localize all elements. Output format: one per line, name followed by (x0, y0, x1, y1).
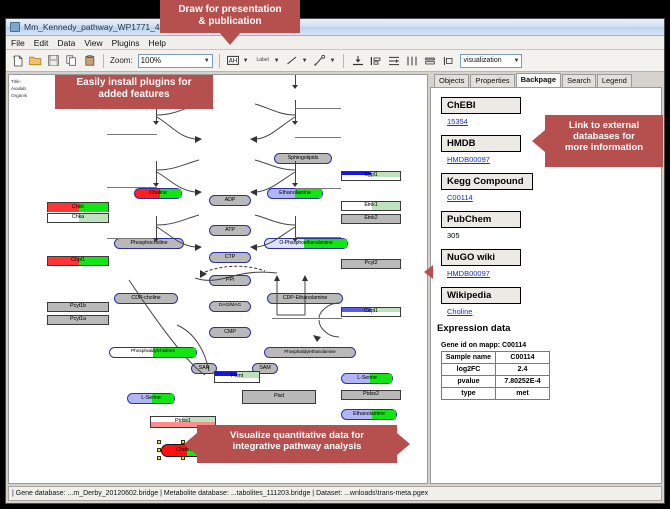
zoom-combo[interactable]: 100% ▼ (138, 54, 213, 68)
node-label: O-Phosphoethanolamine (279, 241, 332, 246)
node-label: Ethanolamine (279, 191, 311, 196)
expr-key-log2fc: log2FC (442, 364, 496, 376)
datanode-icon[interactable]: AH (226, 53, 241, 68)
db-name-pubchem: PubChem (441, 211, 521, 228)
node-label: Phosphatidylethanolamine (284, 350, 336, 355)
toolbar: Zoom: 100% ▼ AH ▼ Label ▼ ▼ ▼ (6, 50, 664, 72)
node-label: CMP (224, 330, 236, 335)
zoom-label: Zoom: (110, 56, 133, 65)
node-label: Ptdss1 (175, 419, 191, 424)
node-label: Phosphocholine (131, 241, 168, 246)
db-block-pubchem: PubChem 305 (441, 209, 661, 240)
paste-icon[interactable] (82, 53, 97, 68)
visualization-combo[interactable]: visualization ▼ (460, 54, 522, 68)
menu-item-edit[interactable]: Edit (34, 38, 49, 48)
toolbar-separator-1 (103, 54, 104, 68)
db-block-wikipedia: Wikipedia Choline (441, 285, 661, 316)
node-label: Phosphatidylcholines (131, 350, 175, 355)
node-label: Ptdss2 (363, 392, 379, 397)
align-top-icon[interactable] (350, 53, 365, 68)
menu-item-file[interactable]: File (11, 38, 25, 48)
tab-properties[interactable]: Properties (470, 74, 514, 87)
expr-val-pvalue: 7.80252E-4 (496, 376, 550, 388)
node-label: Pemt (231, 374, 243, 379)
callout-link: Link to external databases for more info… (545, 115, 663, 167)
db-name-kegg: Kegg Compound (441, 173, 533, 190)
menu-item-view[interactable]: View (84, 38, 102, 48)
arrowhead-2 (153, 183, 159, 187)
callout-link-arrow-icon (532, 130, 545, 152)
pathway-canvas[interactable]: Title: Availab Organis (8, 74, 428, 484)
callout-draw: Draw for presentation & publication (160, 0, 300, 33)
line-dropdown-icon[interactable]: ▼ (302, 58, 308, 64)
node-label: Pisd (274, 394, 284, 399)
node-label: ATP (225, 228, 235, 233)
chevron-down-icon: ▼ (204, 58, 210, 64)
db-link-wikipedia[interactable]: Choline (447, 307, 661, 316)
db-name-wikipedia: Wikipedia (441, 287, 521, 304)
title-bar: Mm_Kennedy_pathway_WP1771_45176.gpml (6, 19, 664, 36)
node-label: Etnk1 (364, 203, 377, 208)
align-left-icon[interactable] (368, 53, 383, 68)
save-icon[interactable] (46, 53, 61, 68)
expr-val-sample: C00114 (496, 352, 550, 364)
db-name-hmdb: HMDB (441, 135, 521, 152)
db-block-nugo: NuGO wiki HMDB00097 (441, 247, 661, 278)
expr-key-type: type (442, 388, 496, 400)
selection-handle-ml[interactable] (157, 448, 161, 452)
callout-plugins-line1: Easily install plugins for (55, 77, 213, 89)
label-dropdown-icon[interactable]: ▼ (274, 58, 280, 64)
node-label: CDP-choline (131, 296, 160, 301)
callout-visualize-arrow-left-icon (184, 433, 197, 455)
open-folder-icon[interactable] (28, 53, 43, 68)
db-link-kegg[interactable]: C00114 (447, 193, 661, 202)
node-label: DAG/MAG (219, 304, 241, 309)
callout-link-line2: databases for (545, 131, 663, 142)
arrowhead-6 (292, 183, 298, 187)
arrowhead-5 (292, 121, 298, 125)
db-block-kegg: Kegg Compound C00114 (441, 171, 661, 202)
expr-key-sample: Sample name (442, 352, 496, 364)
node-label: Etnk2 (364, 216, 377, 221)
table-row: Sample name C00114 (442, 352, 550, 364)
node-label: Choline (149, 191, 167, 196)
line-icon[interactable] (285, 53, 300, 68)
group-icon[interactable] (440, 53, 455, 68)
table-row: log2FC 2.4 (442, 364, 550, 376)
db-link-nugo[interactable]: HMDB00097 (447, 269, 661, 278)
tab-backpage[interactable]: Backpage (516, 73, 561, 87)
anchor-line-icon[interactable] (313, 53, 328, 68)
menu-bar: File Edit Data View Plugins Help (6, 36, 664, 50)
node-label: Pcyt2 (365, 261, 378, 266)
node-label: Sphingolipids (288, 156, 319, 161)
gene-id-line: Gene id on mapp: C00114 (441, 342, 661, 349)
expression-data-title: Expression data (437, 323, 661, 334)
selection-handle-bc[interactable] (181, 456, 185, 460)
side-panel-tabs: Objects Properties Backpage Search Legen… (430, 74, 662, 87)
status-bar-text: | Gene database: ...m_Derby_20120602.bri… (12, 490, 428, 497)
zoom-value: 100% (141, 56, 161, 65)
menu-item-data[interactable]: Data (57, 38, 75, 48)
node-label: L-Serine (141, 396, 161, 401)
callout-visualize-line1: Visualize quantitative data for (197, 430, 397, 441)
callout-draw-line1: Draw for presentation (160, 4, 300, 16)
db-value-pubchem: 305 (447, 231, 661, 240)
node-label: ADP (225, 198, 236, 203)
node-label: Sgpl1 (364, 173, 377, 178)
expr-val-type: met (496, 388, 550, 400)
node-label: PPi (226, 278, 234, 283)
new-file-icon[interactable] (10, 53, 25, 68)
distribute-vertical-icon[interactable] (386, 53, 401, 68)
table-row: type met (442, 388, 550, 400)
selection-handle-tl[interactable] (157, 440, 161, 444)
tab-objects[interactable]: Objects (434, 74, 469, 87)
menu-item-help[interactable]: Help (149, 38, 166, 48)
reaction-arcs (9, 75, 428, 484)
anchor-dropdown-icon[interactable]: ▼ (330, 58, 336, 64)
tab-search[interactable]: Search (562, 74, 596, 87)
node-label: Cept1 (364, 309, 378, 314)
callout-draw-line2: & publication (160, 16, 300, 28)
node-label: CDP-Ethanolamine (283, 296, 328, 301)
callout-visualize: Visualize quantitative data for integrat… (197, 425, 397, 463)
node-label: SAM (259, 366, 270, 371)
callout-plugins-line2: added features (55, 89, 213, 101)
node-label: CTP (225, 255, 235, 260)
copy-icon[interactable] (64, 53, 79, 68)
node-label: Pcyt1a (70, 317, 86, 322)
node-label: Pcyt1b (70, 304, 86, 309)
node-label: Chka (72, 215, 84, 220)
node-label: Ethanolamine (353, 412, 385, 417)
db-name-nugo: NuGO wiki (441, 249, 521, 266)
callout-visualize-arrow-right-icon (397, 433, 410, 455)
status-bar: | Gene database: ...m_Derby_20120602.bri… (8, 486, 662, 501)
datanode-dropdown-icon[interactable]: ▼ (243, 58, 249, 64)
node-label: SAH (199, 366, 210, 371)
menu-item-plugins[interactable]: Plugins (112, 38, 140, 48)
table-row: pvalue 7.80252E-4 (442, 376, 550, 388)
callout-draw-arrow-icon (219, 32, 241, 45)
label-icon[interactable]: Label (254, 53, 272, 68)
arrowhead-4 (292, 85, 298, 89)
arrowhead-1 (153, 121, 159, 125)
node-label: Chpt1 (71, 258, 85, 263)
distribute-horizontal-icon[interactable] (404, 53, 419, 68)
expr-key-pvalue: pvalue (442, 376, 496, 388)
svg-text:AH: AH (229, 58, 238, 65)
callout-link-line3: more information (545, 142, 663, 153)
stack-icon[interactable] (422, 53, 437, 68)
callout-visualize-line2: integrative pathway analysis (197, 441, 397, 452)
expression-table: Sample name C00114 log2FC 2.4 pvalue 7.8… (441, 351, 550, 400)
db-name-chebi: ChEBI (441, 97, 521, 114)
selection-handle-bl[interactable] (157, 456, 161, 460)
expr-val-log2fc: 2.4 (496, 364, 550, 376)
callout-link-line1: Link to external (545, 120, 663, 131)
app-logo-icon (10, 22, 20, 32)
node-label: L-Serine (357, 376, 377, 381)
tab-legend[interactable]: Legend (597, 74, 632, 87)
toolbar-separator-2 (219, 54, 220, 68)
callout-expression-arrow-icon (424, 265, 433, 279)
callout-plugins: Easily install plugins for added feature… (55, 74, 213, 109)
chevron-down-icon-2: ▼ (514, 58, 520, 64)
visualization-value: visualization (463, 57, 501, 64)
toolbar-separator-3 (343, 54, 344, 68)
pathvisio-window: Mm_Kennedy_pathway_WP1771_45176.gpml Fil… (5, 18, 665, 504)
node-label: Chkb (72, 205, 84, 210)
